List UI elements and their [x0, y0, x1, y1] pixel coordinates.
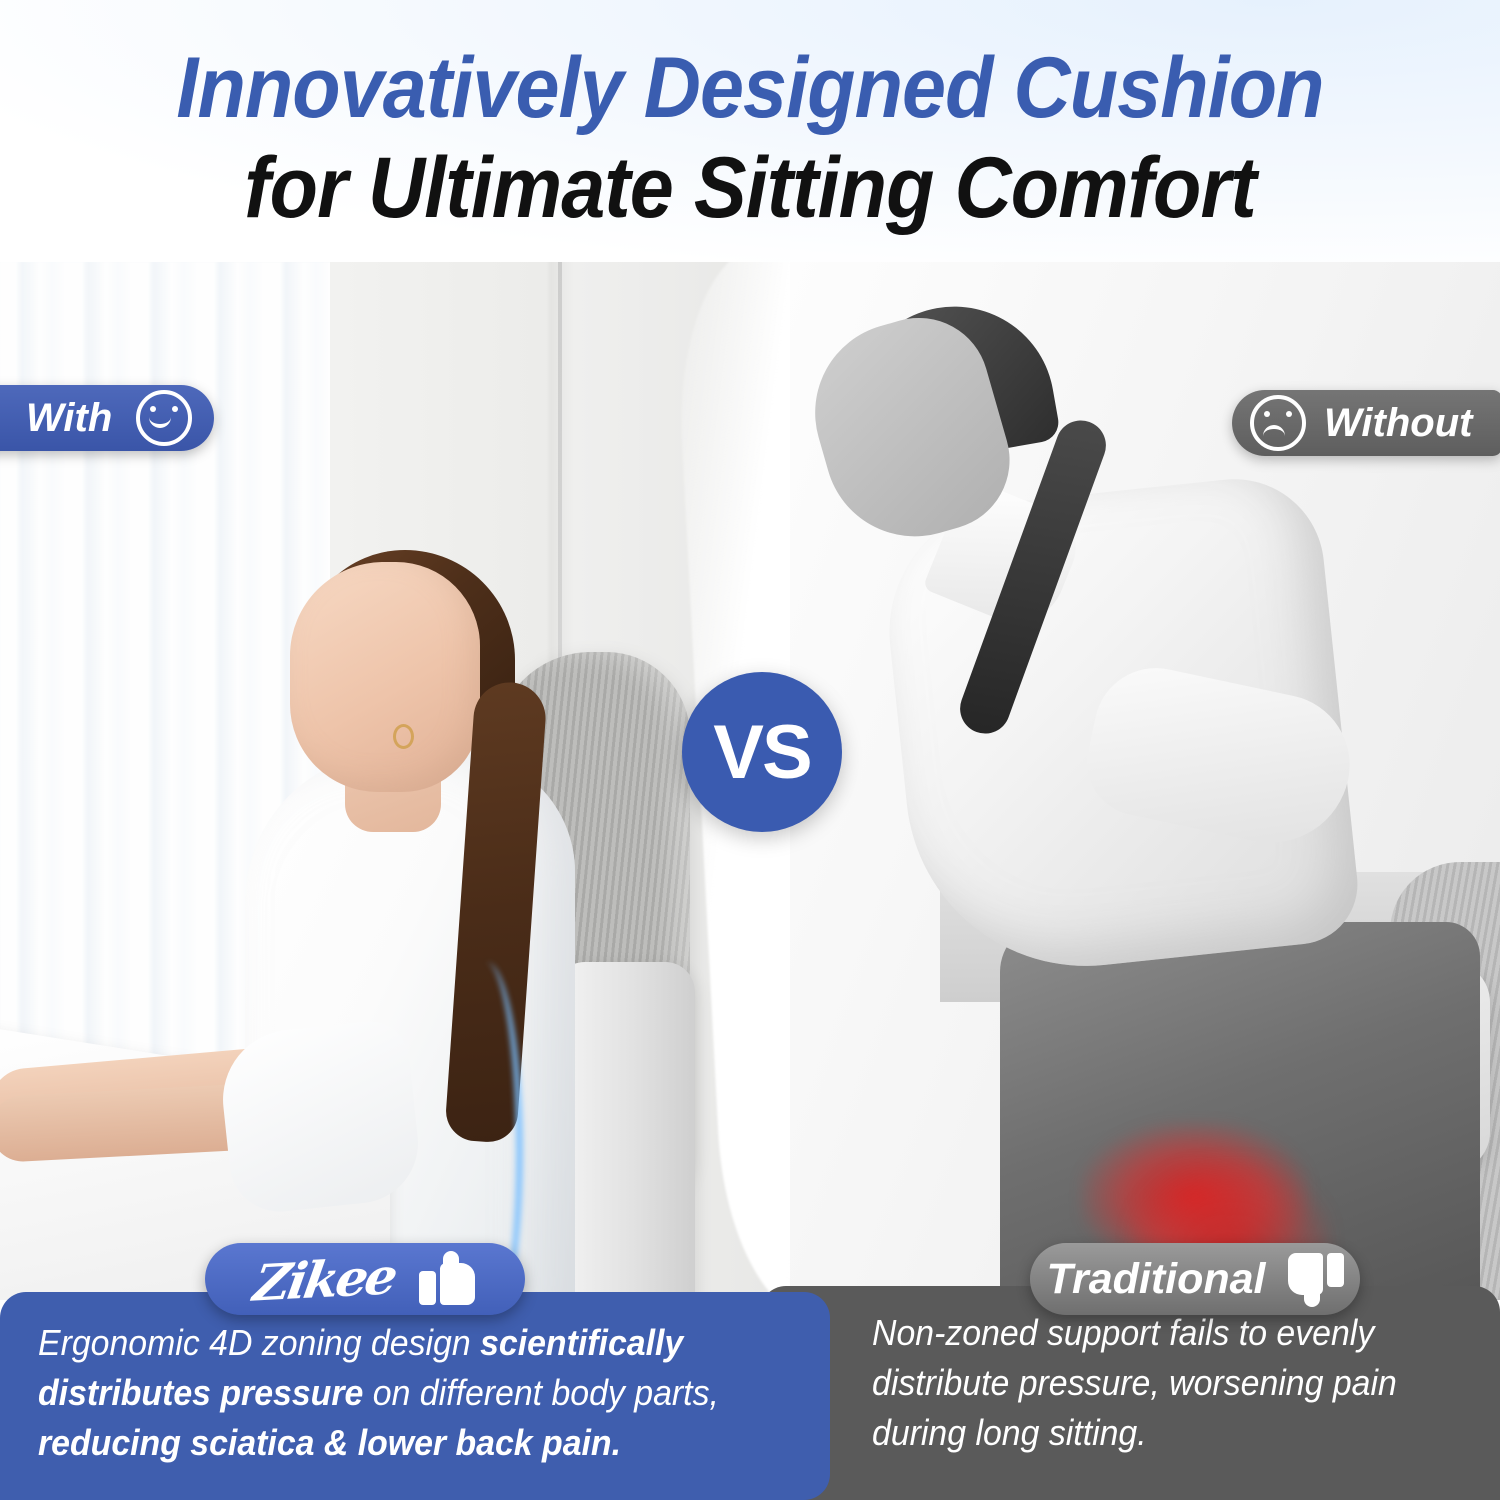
- office-chair-frame: [555, 962, 695, 1300]
- traditional-badge: Traditional: [1030, 1243, 1360, 1315]
- header-banner: Innovatively Designed Cushion for Ultima…: [0, 0, 1500, 262]
- traditional-label: Traditional: [1046, 1255, 1265, 1304]
- thumbs-up-icon: [419, 1253, 475, 1305]
- without-badge-label: Without: [1324, 401, 1472, 446]
- page-title-line-1: Innovatively Designed Cushion: [60, 40, 1440, 136]
- brand-wordmark: Zikee: [249, 1246, 399, 1312]
- without-cushion-badge: Without: [1232, 390, 1500, 456]
- smiley-face-icon: [136, 390, 192, 446]
- with-caption-text: Ergonomic 4D zoning design scientificall…: [38, 1318, 752, 1468]
- seated-woman-sleeve: [216, 1018, 424, 1217]
- without-caption-text: Non-zoned support fails to evenly distri…: [872, 1308, 1436, 1458]
- without-caption-panel: Non-zoned support fails to evenly distri…: [760, 1286, 1500, 1500]
- product-comparison-infographic: Innovatively Designed Cushion for Ultima…: [0, 0, 1500, 1500]
- page-title-line-2: for Ultimate Sitting Comfort: [60, 140, 1440, 236]
- zikee-brand-badge: Zikee: [205, 1243, 525, 1315]
- with-cushion-badge: With: [0, 385, 214, 451]
- with-badge-label: With: [26, 396, 112, 441]
- thumbs-down-icon: [1288, 1253, 1344, 1305]
- versus-badge: VS: [682, 672, 842, 832]
- earring-icon: [393, 724, 414, 749]
- sad-face-icon: [1250, 395, 1306, 451]
- with-caption-panel: Ergonomic 4D zoning design scientificall…: [0, 1292, 830, 1500]
- seated-woman-head: [290, 562, 480, 792]
